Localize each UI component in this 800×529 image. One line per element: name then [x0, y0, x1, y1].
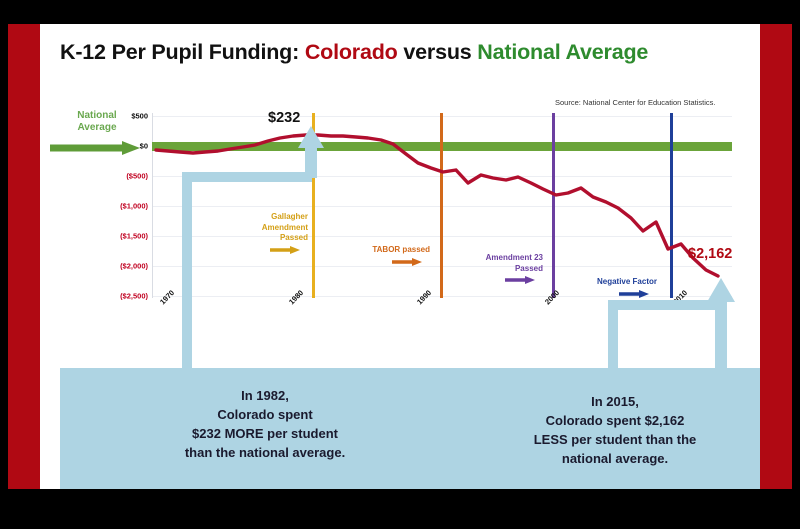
annotation-gallagher-line2: Amendment: [230, 223, 308, 234]
y-tick-m2500: ($2,500): [120, 292, 148, 301]
callout-value-232: $232: [268, 110, 300, 126]
summary-right-line4: national average.: [490, 449, 740, 468]
y-axis-labels: $500 $0 ($500) ($1,000) ($1,500) ($2,000…: [112, 113, 148, 298]
annotation-gallagher-line1: Gallagher: [230, 212, 308, 223]
callout-value-2162: $2,162: [688, 246, 732, 262]
annotation-tabor: TABOR passed: [352, 245, 430, 271]
summary-left-line1: In 1982,: [150, 386, 380, 405]
connector-right-arrow-up-icon: [707, 278, 735, 373]
annotation-tabor-line1: TABOR passed: [352, 245, 430, 256]
connector-left-vertical: [182, 172, 192, 372]
y-tick-m500: ($500): [126, 172, 148, 181]
connector-left-arrow-up-icon: [298, 126, 324, 178]
annotation-gallagher-line3: Passed: [230, 233, 308, 244]
summary-left-line3: $232 MORE per student: [150, 424, 380, 443]
page-title: K-12 Per Pupil Funding: Colorado versus …: [60, 40, 750, 74]
connector-right-horizontal: [608, 300, 718, 310]
summary-left-line4: than the national average.: [150, 443, 380, 462]
y-tick-500: $500: [131, 112, 148, 121]
annotation-gallagher-arrow-icon: [230, 244, 308, 256]
title-colorado: Colorado: [305, 40, 398, 64]
annotation-amendment23: Amendment 23 Passed: [455, 253, 543, 290]
y-tick-m1000: ($1,000): [120, 202, 148, 211]
letterbox-top: [0, 0, 800, 24]
connector-left-horizontal: [182, 172, 312, 182]
title-national-average: National Average: [477, 40, 648, 64]
y-tick-m1500: ($1,500): [120, 232, 148, 241]
letterbox-bottom: [0, 489, 800, 529]
annotation-amendment23-arrow-icon: [455, 274, 543, 286]
summary-right-line3: LESS per student than the: [490, 430, 740, 449]
title-middle: versus: [398, 40, 478, 64]
annotation-amendment23-line2: Passed: [455, 264, 543, 275]
y-tick-0: $0: [140, 142, 148, 151]
summary-right-text: In 2015, Colorado spent $2,162 LESS per …: [490, 392, 740, 468]
y-tick-m2000: ($2,000): [120, 262, 148, 271]
summary-left-text: In 1982, Colorado spent $232 MORE per st…: [150, 386, 380, 462]
annotation-tabor-arrow-icon: [352, 256, 430, 268]
summary-left-line2: Colorado spent: [150, 405, 380, 424]
chart-plot-area: [152, 113, 732, 298]
slide-root: K-12 Per Pupil Funding: Colorado versus …: [0, 0, 800, 529]
annotation-gallagher: Gallagher Amendment Passed: [230, 212, 308, 259]
summary-right-line2: Colorado spent $2,162: [490, 411, 740, 430]
source-note: Source: National Center for Education St…: [555, 98, 716, 107]
connector-right-vertical: [608, 300, 618, 372]
annotation-negative-factor-line1: Negative Factor: [575, 277, 657, 288]
title-prefix: K-12 Per Pupil Funding:: [60, 40, 305, 64]
peak-marker-dot-icon: [152, 113, 732, 298]
annotation-negative-factor-arrow-icon: [575, 288, 657, 300]
summary-right-line1: In 2015,: [490, 392, 740, 411]
annotation-amendment23-line1: Amendment 23: [455, 253, 543, 264]
